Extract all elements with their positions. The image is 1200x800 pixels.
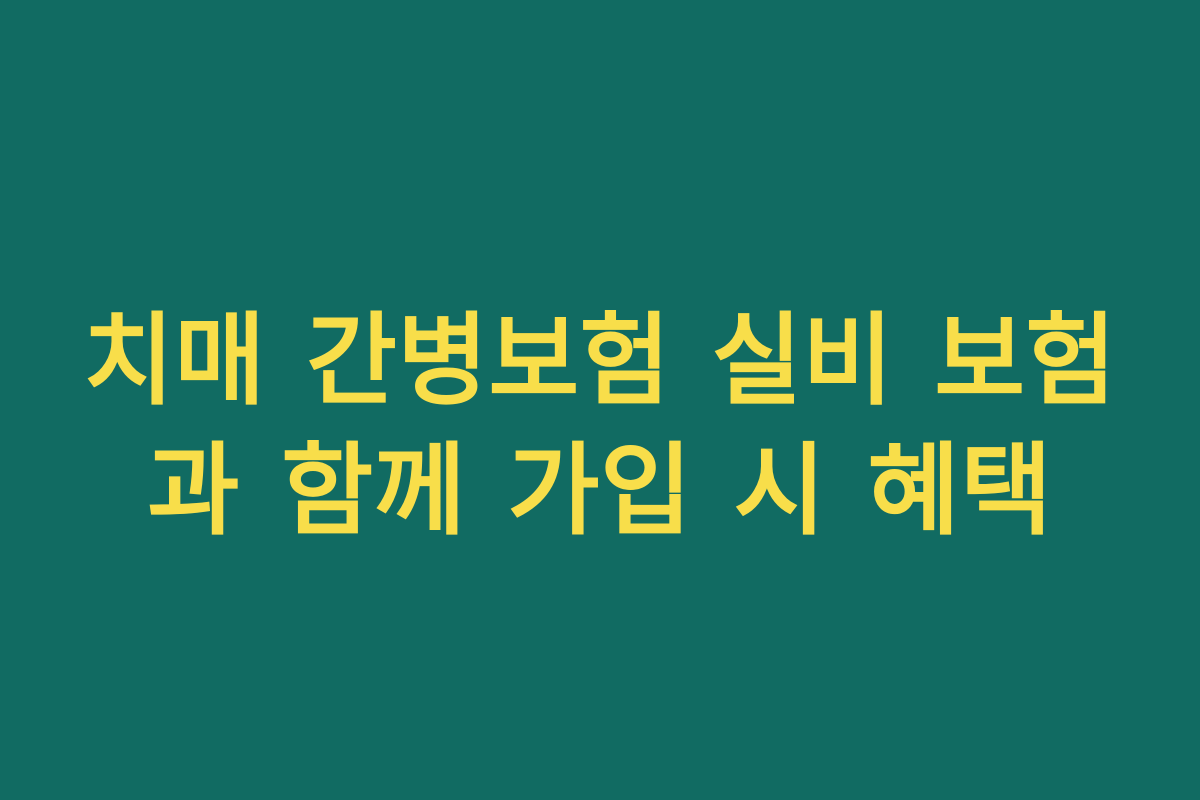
title-banner: 치매 간병보험 실비 보험 과 함께 가입 시 혜택 (0, 0, 1200, 800)
banner-title-line-1: 치매 간병보험 실비 보험 (9, 305, 1191, 417)
banner-title-line-2: 과 함께 가입 시 혜택 (0, 435, 1200, 547)
banner-title-block: 치매 간병보험 실비 보험 과 함께 가입 시 혜택 (0, 305, 1200, 547)
